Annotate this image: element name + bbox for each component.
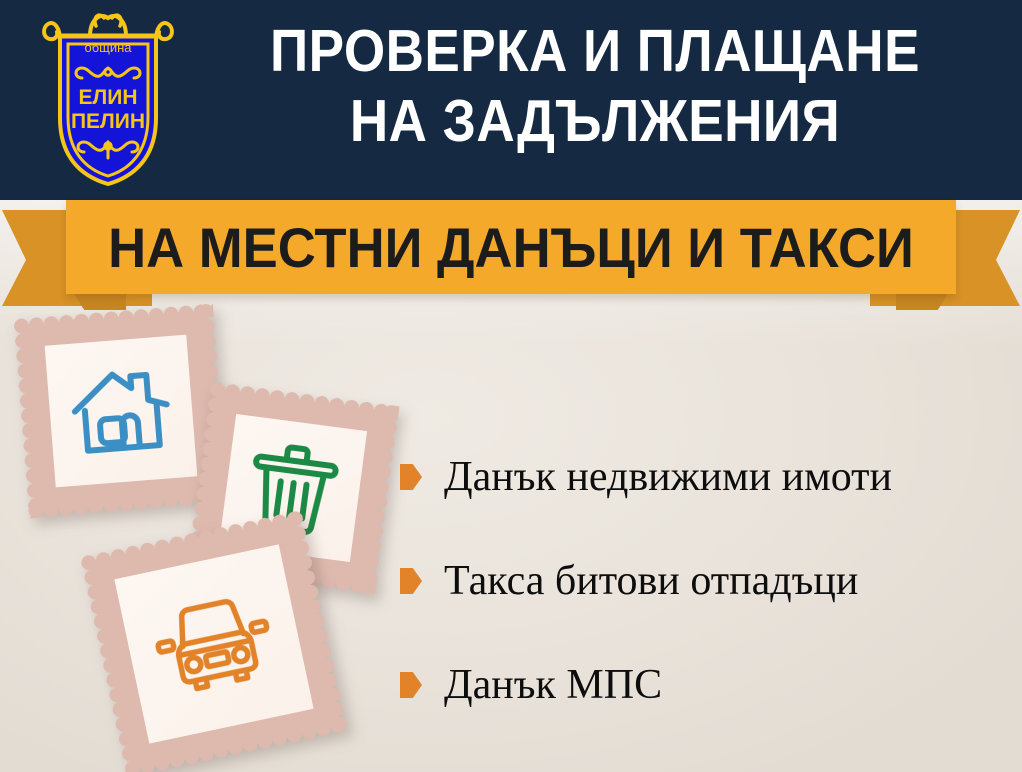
emblem-line-mid: ЕЛИН: [78, 86, 137, 109]
list-item[interactable]: Данък МПС: [400, 633, 1010, 737]
header-bar: община ЕЛИН ПЕЛИН ПРОВЕРКА И ПЛАЩАНЕ НА …: [0, 0, 1022, 200]
arrow-bullet-icon: [400, 464, 422, 490]
ribbon-main-panel: НА МЕСТНИ ДАНЪЦИ И ТАКСИ: [66, 200, 956, 294]
house-card: [21, 311, 221, 511]
list-item[interactable]: Данък недвижими имоти: [400, 425, 1010, 529]
ribbon-subtitle: НА МЕСТНИ ДАНЪЦИ И ТАКСИ: [93, 200, 930, 294]
list-item-label: Такса битови отпадъци: [444, 560, 858, 602]
house-card-paper: [45, 335, 198, 488]
ribbon-banner: НА МЕСТНИ ДАНЪЦИ И ТАКСИ: [0, 196, 1022, 314]
house-icon: [65, 360, 176, 462]
list-item[interactable]: Такса битови отпадъци: [400, 529, 1010, 633]
emblem-line-bottom: ПЕЛИН: [71, 110, 145, 133]
car-card: [88, 518, 339, 769]
car-card-paper: [114, 544, 313, 743]
tax-type-list: Данък недвижими имоти Такса битови отпад…: [400, 425, 1010, 737]
arrow-bullet-icon: [400, 568, 422, 594]
car-front-icon: [146, 585, 281, 703]
coat-of-arms-emblem: община ЕЛИН ПЕЛИН: [38, 6, 178, 190]
emblem-line-top: община: [84, 40, 132, 55]
list-item-label: Данък МПС: [444, 664, 662, 706]
list-item-label: Данък недвижими имоти: [444, 456, 892, 498]
arrow-bullet-icon: [400, 672, 422, 698]
page-title: ПРОВЕРКА И ПЛАЩАНЕ НА ЗАДЪЛЖЕНИЯ: [226, 16, 964, 156]
poster-canvas: община ЕЛИН ПЕЛИН ПРОВЕРКА И ПЛАЩАНЕ НА …: [0, 0, 1022, 772]
